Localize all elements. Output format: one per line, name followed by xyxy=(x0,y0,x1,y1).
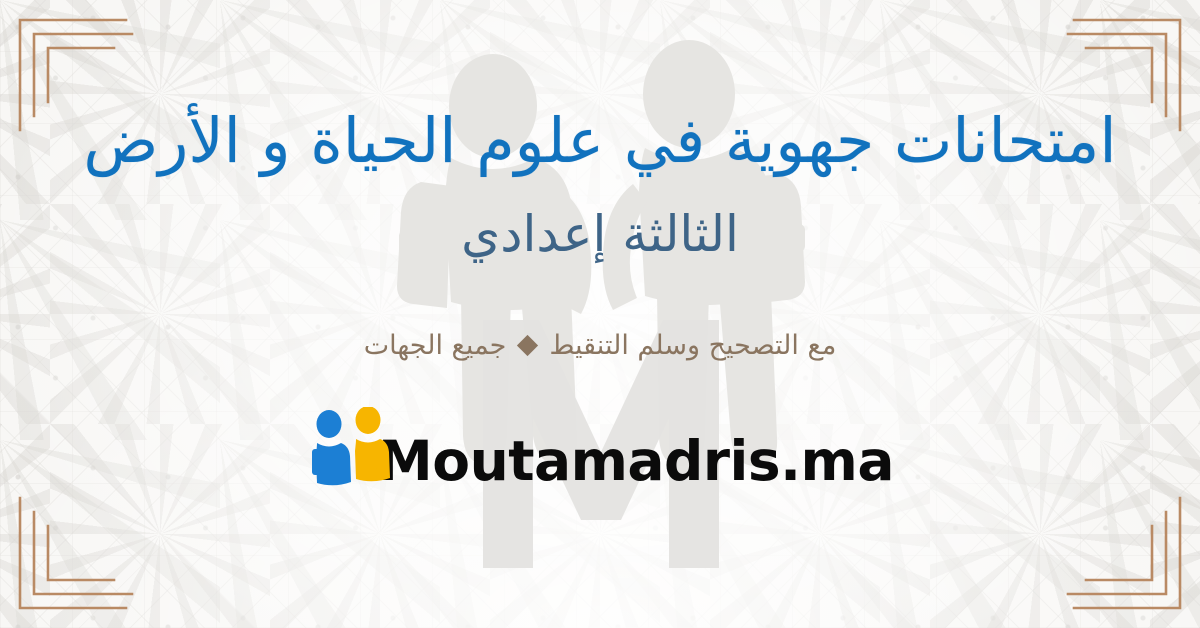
page-title-line1: امتحانات جهوية في علوم الحياة و الأرض xyxy=(83,104,1116,177)
tagline-right-text: مع التصحيح وسلم التنقيط xyxy=(549,330,836,361)
poster-content: امتحانات جهوية في علوم الحياة و الأرض ال… xyxy=(0,0,1200,628)
two-students-logo-icon xyxy=(306,407,398,491)
diamond-bullet-icon xyxy=(517,335,538,356)
page-title-line2: الثالثة إعدادي xyxy=(461,203,739,266)
brand-logo[interactable]: Moutamadris.ma xyxy=(306,407,894,491)
brand-logo-text: Moutamadris.ma xyxy=(378,434,894,491)
tagline: مع التصحيح وسلم التنقيط جميع الجهات xyxy=(364,330,837,361)
poster-canvas: امتحانات جهوية في علوم الحياة و الأرض ال… xyxy=(0,0,1200,628)
tagline-left-text: جميع الجهات xyxy=(364,330,507,361)
